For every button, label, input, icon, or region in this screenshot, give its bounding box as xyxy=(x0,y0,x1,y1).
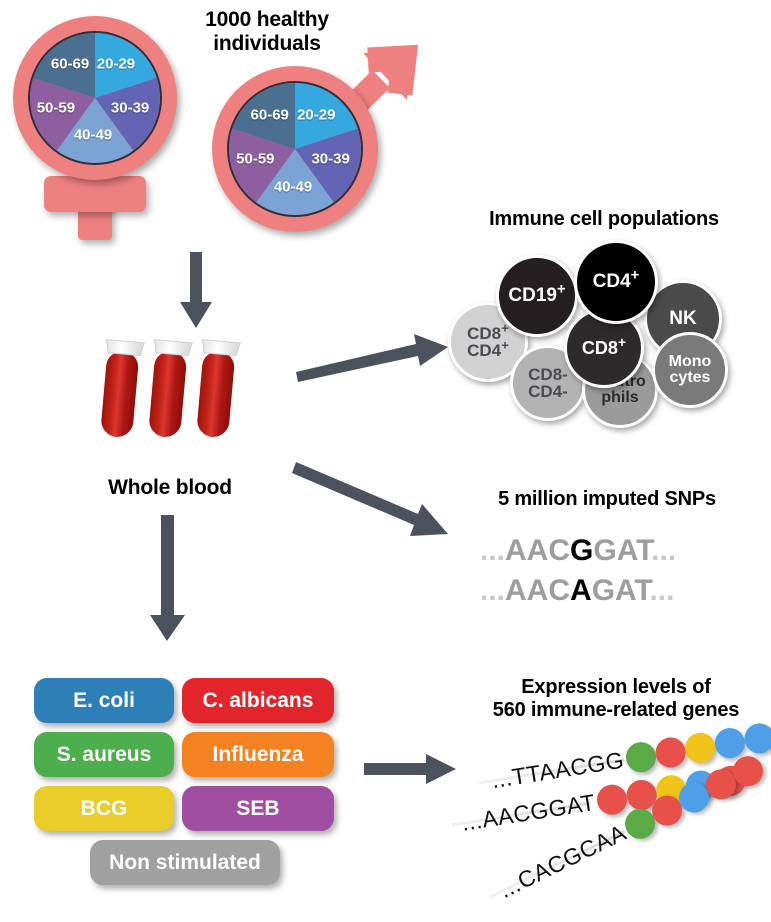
neutrophils-line2: phils xyxy=(601,389,638,406)
arrow-blood-to-snps xyxy=(296,462,466,552)
pie-slice-label: 30-39 xyxy=(111,100,149,117)
snp-left-2: AAC xyxy=(505,574,570,607)
snp-right-1: GAT xyxy=(593,534,651,567)
snp-suffix-2: ... xyxy=(649,574,674,607)
pie-slice-label: 60-69 xyxy=(51,56,89,73)
gene-bead xyxy=(742,721,771,755)
expression-title-line2: 560 immune-related genes xyxy=(466,699,766,722)
stimulus-label: SEB xyxy=(236,797,279,821)
gene-bead xyxy=(683,731,717,765)
snp-variant-1: G xyxy=(570,534,593,567)
stimulus-s-aureus[interactable]: S. aureus xyxy=(34,732,174,777)
snp-sequence-row: ...AACGGAT... xyxy=(480,534,676,568)
immune-cell-cd19: CD19+ xyxy=(496,255,578,337)
gene-bead xyxy=(653,735,687,769)
snp-right-2: GAT xyxy=(592,574,650,607)
stimulus-label: Influenza xyxy=(212,743,303,767)
figure-canvas: 1000 healthy individuals 20-2930-3940-49… xyxy=(0,0,771,922)
snp-suffix-1: ... xyxy=(651,534,676,567)
stimulus-influenza[interactable]: Influenza xyxy=(182,732,334,777)
pie-slice-label: 20-29 xyxy=(297,106,335,123)
cd8p-cd4p-line1: CD8 xyxy=(467,324,501,343)
stimulus-c-albicans[interactable]: C. albicans xyxy=(182,678,334,723)
stimulus-label: E. coli xyxy=(73,689,135,713)
pie-slice-label: 50-59 xyxy=(236,151,274,168)
pie-slice-label: 40-49 xyxy=(74,127,112,144)
pie-slice-label: 40-49 xyxy=(274,178,312,195)
arrow-blood-to-stimuli xyxy=(148,515,188,643)
monocytes-line2: cytes xyxy=(670,369,711,386)
cd4-label: CD4 xyxy=(593,271,631,292)
snp-variant-2: A xyxy=(570,574,592,607)
stimulus-label: S. aureus xyxy=(57,743,152,767)
gene-strands: ...TTAACGG ...AACGGAT ...CACGCAA xyxy=(450,730,771,910)
snp-left-1: AAC xyxy=(505,534,570,567)
blood-tubes xyxy=(96,335,266,450)
snp-prefix-2: ... xyxy=(480,574,505,607)
cd19-sup: + xyxy=(557,282,566,298)
stimuli-panel: E. coli C. albicans S. aureus Influenza … xyxy=(34,678,334,893)
arrow-cohort-to-blood xyxy=(176,252,216,330)
immune-cell-title: Immune cell populations xyxy=(448,208,760,231)
stimulus-e-coli[interactable]: E. coli xyxy=(34,678,174,723)
female-symbol-crossbar xyxy=(44,176,146,212)
snp-sequence-row: ...AACAGAT... xyxy=(480,574,674,608)
cd19-label: CD19 xyxy=(508,285,557,306)
snp-prefix-1: ... xyxy=(480,534,505,567)
pie-slice-label: 30-39 xyxy=(311,151,349,168)
snp-title: 5 million imputed SNPs xyxy=(462,488,752,511)
stimulus-label: Non stimulated xyxy=(109,851,261,875)
stimulus-seb[interactable]: SEB xyxy=(182,786,334,831)
cd8-label: CD8 xyxy=(582,338,618,358)
male-symbol: 20-2930-3940-4950-5960-69 xyxy=(200,40,420,260)
cd8-sup: + xyxy=(618,334,626,350)
stimulus-bcg[interactable]: BCG xyxy=(34,786,174,831)
expression-title: Expression levels of 560 immune-related … xyxy=(466,676,766,722)
immune-cell-cluster: CD19+ CD4+ NK CD8+ CD8+ CD4+ CD8- CD4- N… xyxy=(448,240,758,420)
gene-bead xyxy=(624,740,658,774)
nk-label: NK xyxy=(669,309,696,328)
whole-blood-label: Whole blood xyxy=(60,476,280,500)
snp-sequences: ...AACGGAT... ...AACAGAT... xyxy=(470,530,750,620)
pie-slice-label: 20-29 xyxy=(97,56,135,73)
pie-slice-label: 50-59 xyxy=(37,100,75,117)
cd8p-cd4p-line2: CD4 xyxy=(467,341,501,360)
cd4-sup: + xyxy=(631,268,640,284)
stimulus-label: C. albicans xyxy=(203,689,314,713)
arrow-blood-to-immune-cells xyxy=(296,330,456,380)
expression-title-line1: Expression levels of xyxy=(466,676,766,699)
stimulus-label: BCG xyxy=(81,797,128,821)
cd8n-cd4n-line2: CD4- xyxy=(528,382,568,401)
monocytes-line1: Mono xyxy=(669,353,712,370)
cd8n-cd4n-line1: CD8- xyxy=(528,365,568,384)
immune-cell-cd4: CD4+ xyxy=(574,240,658,324)
arrow-stimuli-to-expression xyxy=(364,750,464,790)
immune-cell-monocytes: Mono cytes xyxy=(652,332,728,408)
female-symbol: 20-2930-3940-4950-5960-69 xyxy=(0,8,200,248)
pie-slice-label: 60-69 xyxy=(251,106,289,123)
stimulus-non-stimulated[interactable]: Non stimulated xyxy=(90,840,280,885)
